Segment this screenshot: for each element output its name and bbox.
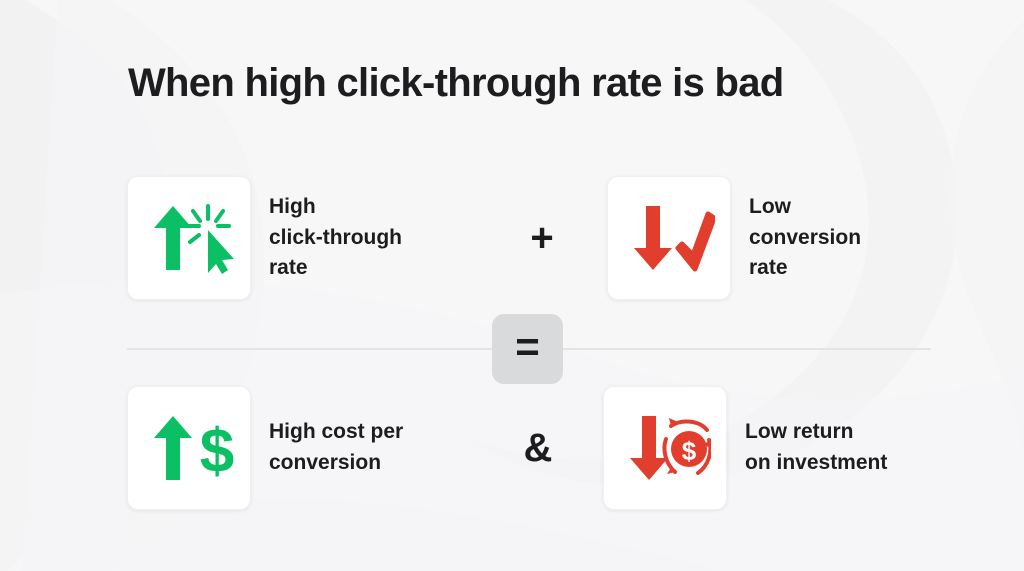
- svg-text:$: $: [200, 417, 234, 484]
- svg-text:$: $: [682, 436, 697, 466]
- metric-high-ctr: High click-through rate: [127, 176, 457, 300]
- click-cursor-green-icon: [187, 206, 234, 274]
- icon-card-low-roi: $: [603, 386, 727, 510]
- high-cost-icon-group: $: [143, 412, 235, 484]
- low-roi-icon-group: $: [619, 412, 711, 484]
- slide-canvas: When high click-through rate is bad =: [0, 0, 1024, 571]
- metric-label-low-conversion: Low conversion rate: [749, 192, 861, 285]
- metric-low-conversion: Low conversion rate: [607, 176, 861, 300]
- roi-cycle-red-icon: $: [664, 418, 711, 474]
- icon-card-low-conversion: [607, 176, 731, 300]
- connector-plus: +: [499, 218, 585, 258]
- connector-ampersand: &: [495, 428, 581, 468]
- metric-label-high-cost: High cost per conversion: [269, 417, 403, 479]
- icon-card-high-ctr: [127, 176, 251, 300]
- metric-label-high-ctr: High click-through rate: [269, 192, 402, 285]
- arrow-up-green-icon: [154, 206, 192, 270]
- low-conversion-icon-group: [623, 202, 715, 274]
- metric-high-cost-per-conversion: $ High cost per conversion: [127, 386, 457, 510]
- equals-badge: =: [492, 314, 563, 384]
- equation-top-row: High click-through rate + Low conversion…: [127, 176, 861, 300]
- high-ctr-icon-group: [143, 202, 235, 274]
- metric-low-roi: $ Low return on investment: [603, 386, 887, 510]
- page-title: When high click-through rate is bad: [128, 61, 988, 106]
- checkmark-red-icon: [678, 214, 714, 269]
- equation-bottom-row: $ High cost per conversion & $: [127, 386, 887, 510]
- dollar-sign-green-icon: $: [200, 417, 234, 484]
- arrow-down-red-icon: [634, 206, 672, 270]
- equals-symbol: =: [515, 326, 540, 368]
- icon-card-high-cost: $: [127, 386, 251, 510]
- arrow-up-green-icon: [154, 416, 192, 480]
- metric-label-low-roi: Low return on investment: [745, 417, 887, 479]
- arrow-down-red-icon: [630, 416, 668, 480]
